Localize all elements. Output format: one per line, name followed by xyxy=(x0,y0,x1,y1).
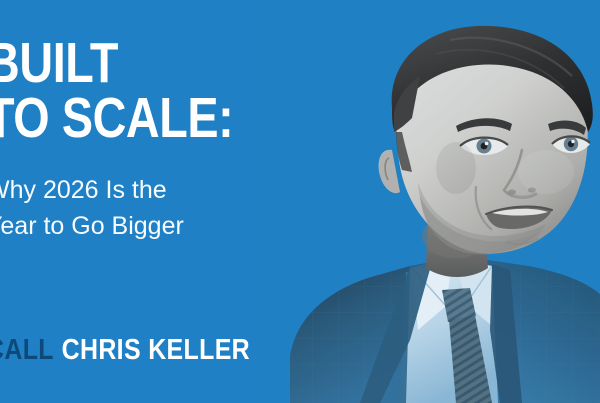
subtitle-line-2: Year to Go Bigger xyxy=(0,209,184,245)
page-title: BUILT TO SCALE: xyxy=(0,36,233,145)
promo-text-column: BUILT TO SCALE: Why 2026 Is the Year to … xyxy=(0,0,316,403)
page-subtitle: Why 2026 Is the Year to Go Bigger xyxy=(0,173,184,244)
webinar-promo-banner: BUILT TO SCALE: Why 2026 Is the Year to … xyxy=(0,0,600,403)
cta-speaker-name: CHRIS KELLER xyxy=(62,334,250,366)
headline-line-2: TO SCALE: xyxy=(0,91,233,146)
cta-call-label: CALL xyxy=(0,334,54,366)
cta-text[interactable]: CALLCHRIS KELLER xyxy=(0,336,250,365)
headline-line-1: BUILT xyxy=(0,36,233,91)
subtitle-line-1: Why 2026 Is the xyxy=(0,173,184,209)
